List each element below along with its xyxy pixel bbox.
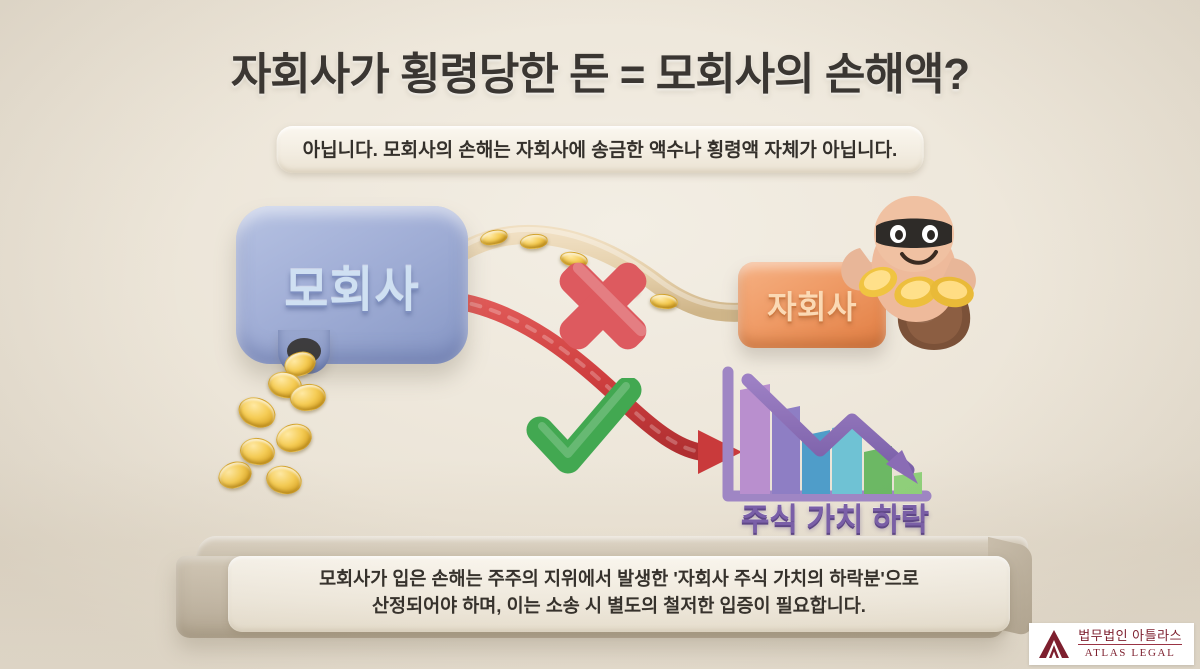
atlas-a-mark-icon	[1037, 629, 1071, 659]
chart-caption-label: 주식 가치 하락	[712, 494, 958, 539]
green-check-mark-icon	[524, 378, 654, 488]
parent-company-box: 모회사	[236, 206, 468, 364]
thief-icon	[820, 186, 1000, 366]
logo-text: 법무법인 아틀라스 ATLAS LEGAL	[1078, 629, 1182, 659]
infographic-stage: 자회사가 횡령당한 돈 = 모회사의 손해액? 아닙니다. 모회사의 손해는 자…	[0, 0, 1200, 669]
logo[interactable]: 법무법인 아틀라스 ATLAS LEGAL	[1029, 623, 1194, 665]
caption-line-2: 산정되어야 하며, 이는 소송 시 별도의 철저한 입증이 필요합니다.	[246, 593, 992, 620]
caption-line-1: 모회사가 입은 손해는 주주의 지위에서 발생한 '자회사 주식 가치의 하락분…	[246, 566, 992, 593]
red-x-mark-icon	[528, 236, 678, 386]
logo-korean: 법무법인 아틀라스	[1078, 629, 1182, 645]
caption-banner: 모회사가 입은 손해는 주주의 지위에서 발생한 '자회사 주식 가치의 하락분…	[228, 556, 1010, 632]
logo-english: ATLAS LEGAL	[1085, 645, 1176, 659]
parent-company-label: 모회사	[284, 250, 419, 320]
